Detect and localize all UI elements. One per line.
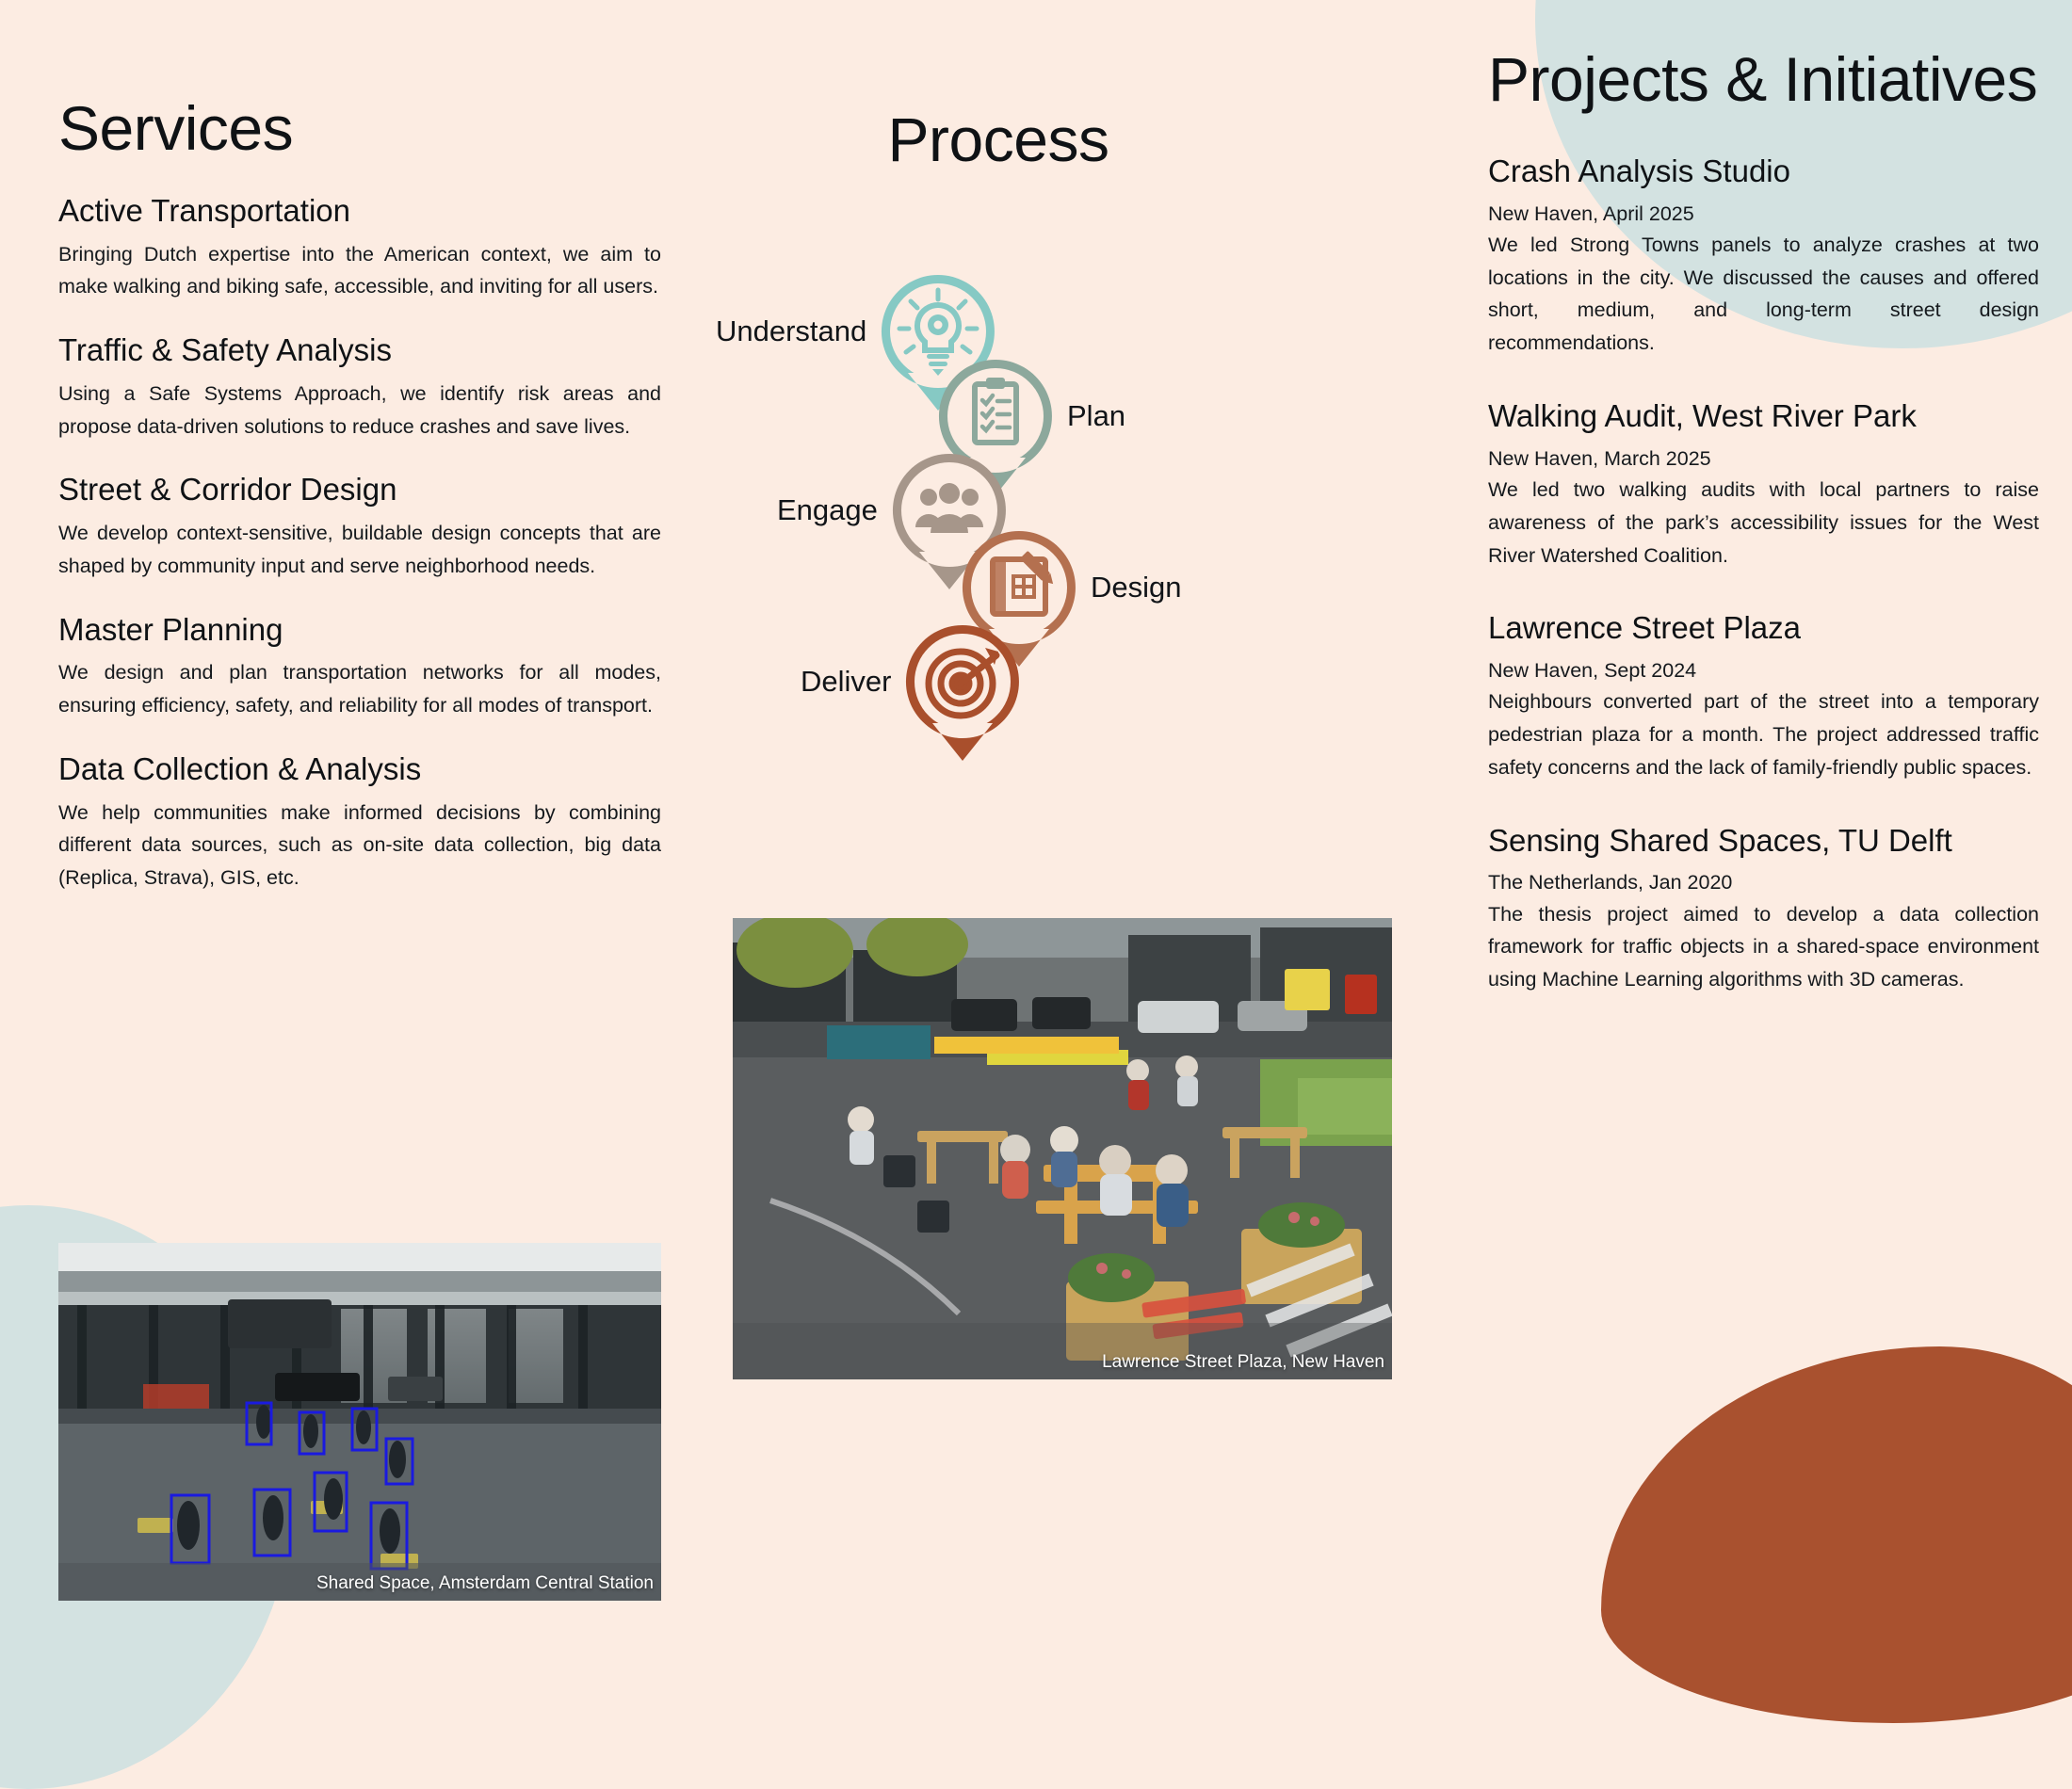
- service-item: Traffic & Safety Analysis Using a Safe S…: [58, 331, 661, 443]
- service-heading: Data Collection & Analysis: [58, 750, 661, 788]
- process-flow-diagram: Understand: [725, 273, 1394, 829]
- photo-amsterdam-artwork: [58, 1243, 661, 1601]
- service-heading: Traffic & Safety Analysis: [58, 331, 661, 369]
- brochure-page: Services Active Transportation Bringing …: [0, 0, 2072, 1601]
- project-meta: The Netherlands, Jan 2020: [1488, 867, 2039, 897]
- service-body: We help communities make informed decisi…: [58, 797, 661, 894]
- process-step-label: Plan: [1067, 399, 1125, 433]
- service-body: Bringing Dutch expertise into the Americ…: [58, 238, 661, 304]
- photo-lawrence-street-plaza: Lawrence Street Plaza, New Haven: [733, 918, 1392, 1379]
- project-heading: Sensing Shared Spaces, TU Delft: [1488, 822, 2039, 860]
- project-heading: Walking Audit, West River Park: [1488, 397, 2039, 435]
- project-heading: Lawrence Street Plaza: [1488, 609, 2039, 647]
- photo-caption: Shared Space, Amsterdam Central Station: [316, 1572, 654, 1596]
- process-step-deliver: Deliver: [801, 623, 1021, 740]
- service-heading: Street & Corridor Design: [58, 471, 661, 508]
- projects-column: Projects & Initiatives Crash Analysis St…: [1488, 0, 2039, 996]
- process-title: Process: [725, 105, 1394, 175]
- project-meta: New Haven, March 2025: [1488, 443, 2039, 474]
- project-meta: New Haven, April 2025: [1488, 199, 2039, 229]
- project-item: Crash Analysis Studio New Haven, April 2…: [1488, 153, 2039, 360]
- project-item: Walking Audit, West River Park New Haven…: [1488, 397, 2039, 572]
- project-heading: Crash Analysis Studio: [1488, 153, 2039, 190]
- project-body: Neighbours converted part of the street …: [1488, 685, 2039, 783]
- project-item: Sensing Shared Spaces, TU Delft The Neth…: [1488, 822, 2039, 996]
- process-step-label: Deliver: [801, 665, 891, 699]
- service-body: We design and plan transportation networ…: [58, 656, 661, 722]
- process-step-label: Understand: [716, 314, 866, 348]
- projects-title: Projects & Initiatives: [1488, 45, 2039, 115]
- services-title: Services: [58, 94, 661, 164]
- services-column: Services Active Transportation Bringing …: [58, 0, 661, 894]
- project-body: The thesis project aimed to develop a da…: [1488, 898, 2039, 996]
- service-item: Master Planning We design and plan trans…: [58, 611, 661, 722]
- process-column: Process: [725, 0, 1394, 175]
- project-item: Lawrence Street Plaza New Haven, Sept 20…: [1488, 609, 2039, 783]
- project-meta: New Haven, Sept 2024: [1488, 655, 2039, 685]
- service-heading: Active Transportation: [58, 192, 661, 230]
- service-item: Active Transportation Bringing Dutch exp…: [58, 192, 661, 303]
- photo-caption: Lawrence Street Plaza, New Haven: [1102, 1351, 1384, 1375]
- process-step-label: Design: [1091, 571, 1182, 604]
- photo-shared-space-amsterdam: Shared Space, Amsterdam Central Station: [58, 1243, 661, 1601]
- project-body: We led two walking audits with local par…: [1488, 474, 2039, 572]
- target-arrow-icon: [904, 623, 1021, 740]
- service-body: Using a Safe Systems Approach, we identi…: [58, 378, 661, 443]
- project-body: We led Strong Towns panels to analyze cr…: [1488, 229, 2039, 360]
- photo-plaza-artwork: [733, 918, 1392, 1379]
- service-heading: Master Planning: [58, 611, 661, 649]
- service-item: Street & Corridor Design We develop cont…: [58, 471, 661, 582]
- service-item: Data Collection & Analysis We help commu…: [58, 750, 661, 894]
- service-body: We develop context-sensitive, buildable …: [58, 517, 661, 583]
- process-step-label: Engage: [777, 493, 878, 527]
